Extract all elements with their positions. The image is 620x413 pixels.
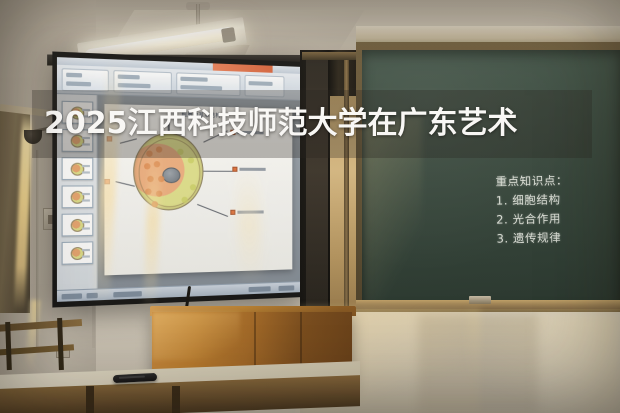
slide-thumbnail[interactable] <box>62 213 94 236</box>
blackboard-line-2: 2. 光合作用 <box>496 209 569 229</box>
ribbon-chip <box>180 77 207 82</box>
ribbon-chip <box>66 81 91 86</box>
ribbon-chip <box>66 73 82 78</box>
blackboard-notes: 重点知识点： 1. 细胞结构 2. 光合作用 3. 遗传规律 <box>495 171 569 248</box>
powerpoint-tab-accent <box>212 63 273 73</box>
door-top-rail <box>302 52 364 60</box>
blackboard-line-1: 1. 细胞结构 <box>496 190 569 210</box>
desk-divider <box>86 386 94 413</box>
blackboard-heading: 重点知识点： <box>495 171 568 191</box>
blackboard-line-3: 3. 遗传规律 <box>496 228 569 248</box>
sunlight-patch-wall-right <box>470 312 620 413</box>
blackboard-eraser <box>469 296 491 304</box>
slide-thumbnail[interactable] <box>62 185 94 208</box>
lamp-end-cap <box>221 27 236 43</box>
slide-thumbnail[interactable] <box>62 241 94 264</box>
screen-glare <box>236 165 262 286</box>
slide-thumbnail[interactable] <box>62 157 94 180</box>
classroom-photo: 细胞的基本结构 <box>0 0 620 413</box>
sunlight-patch-podium <box>152 312 240 360</box>
page-title: 2025江西科技师范大学在广东艺术 <box>44 98 604 150</box>
ribbon-chip <box>249 81 273 86</box>
wall-conduit-pipe <box>36 150 39 350</box>
desk-divider <box>172 386 180 413</box>
cell-nucleus <box>162 167 180 183</box>
